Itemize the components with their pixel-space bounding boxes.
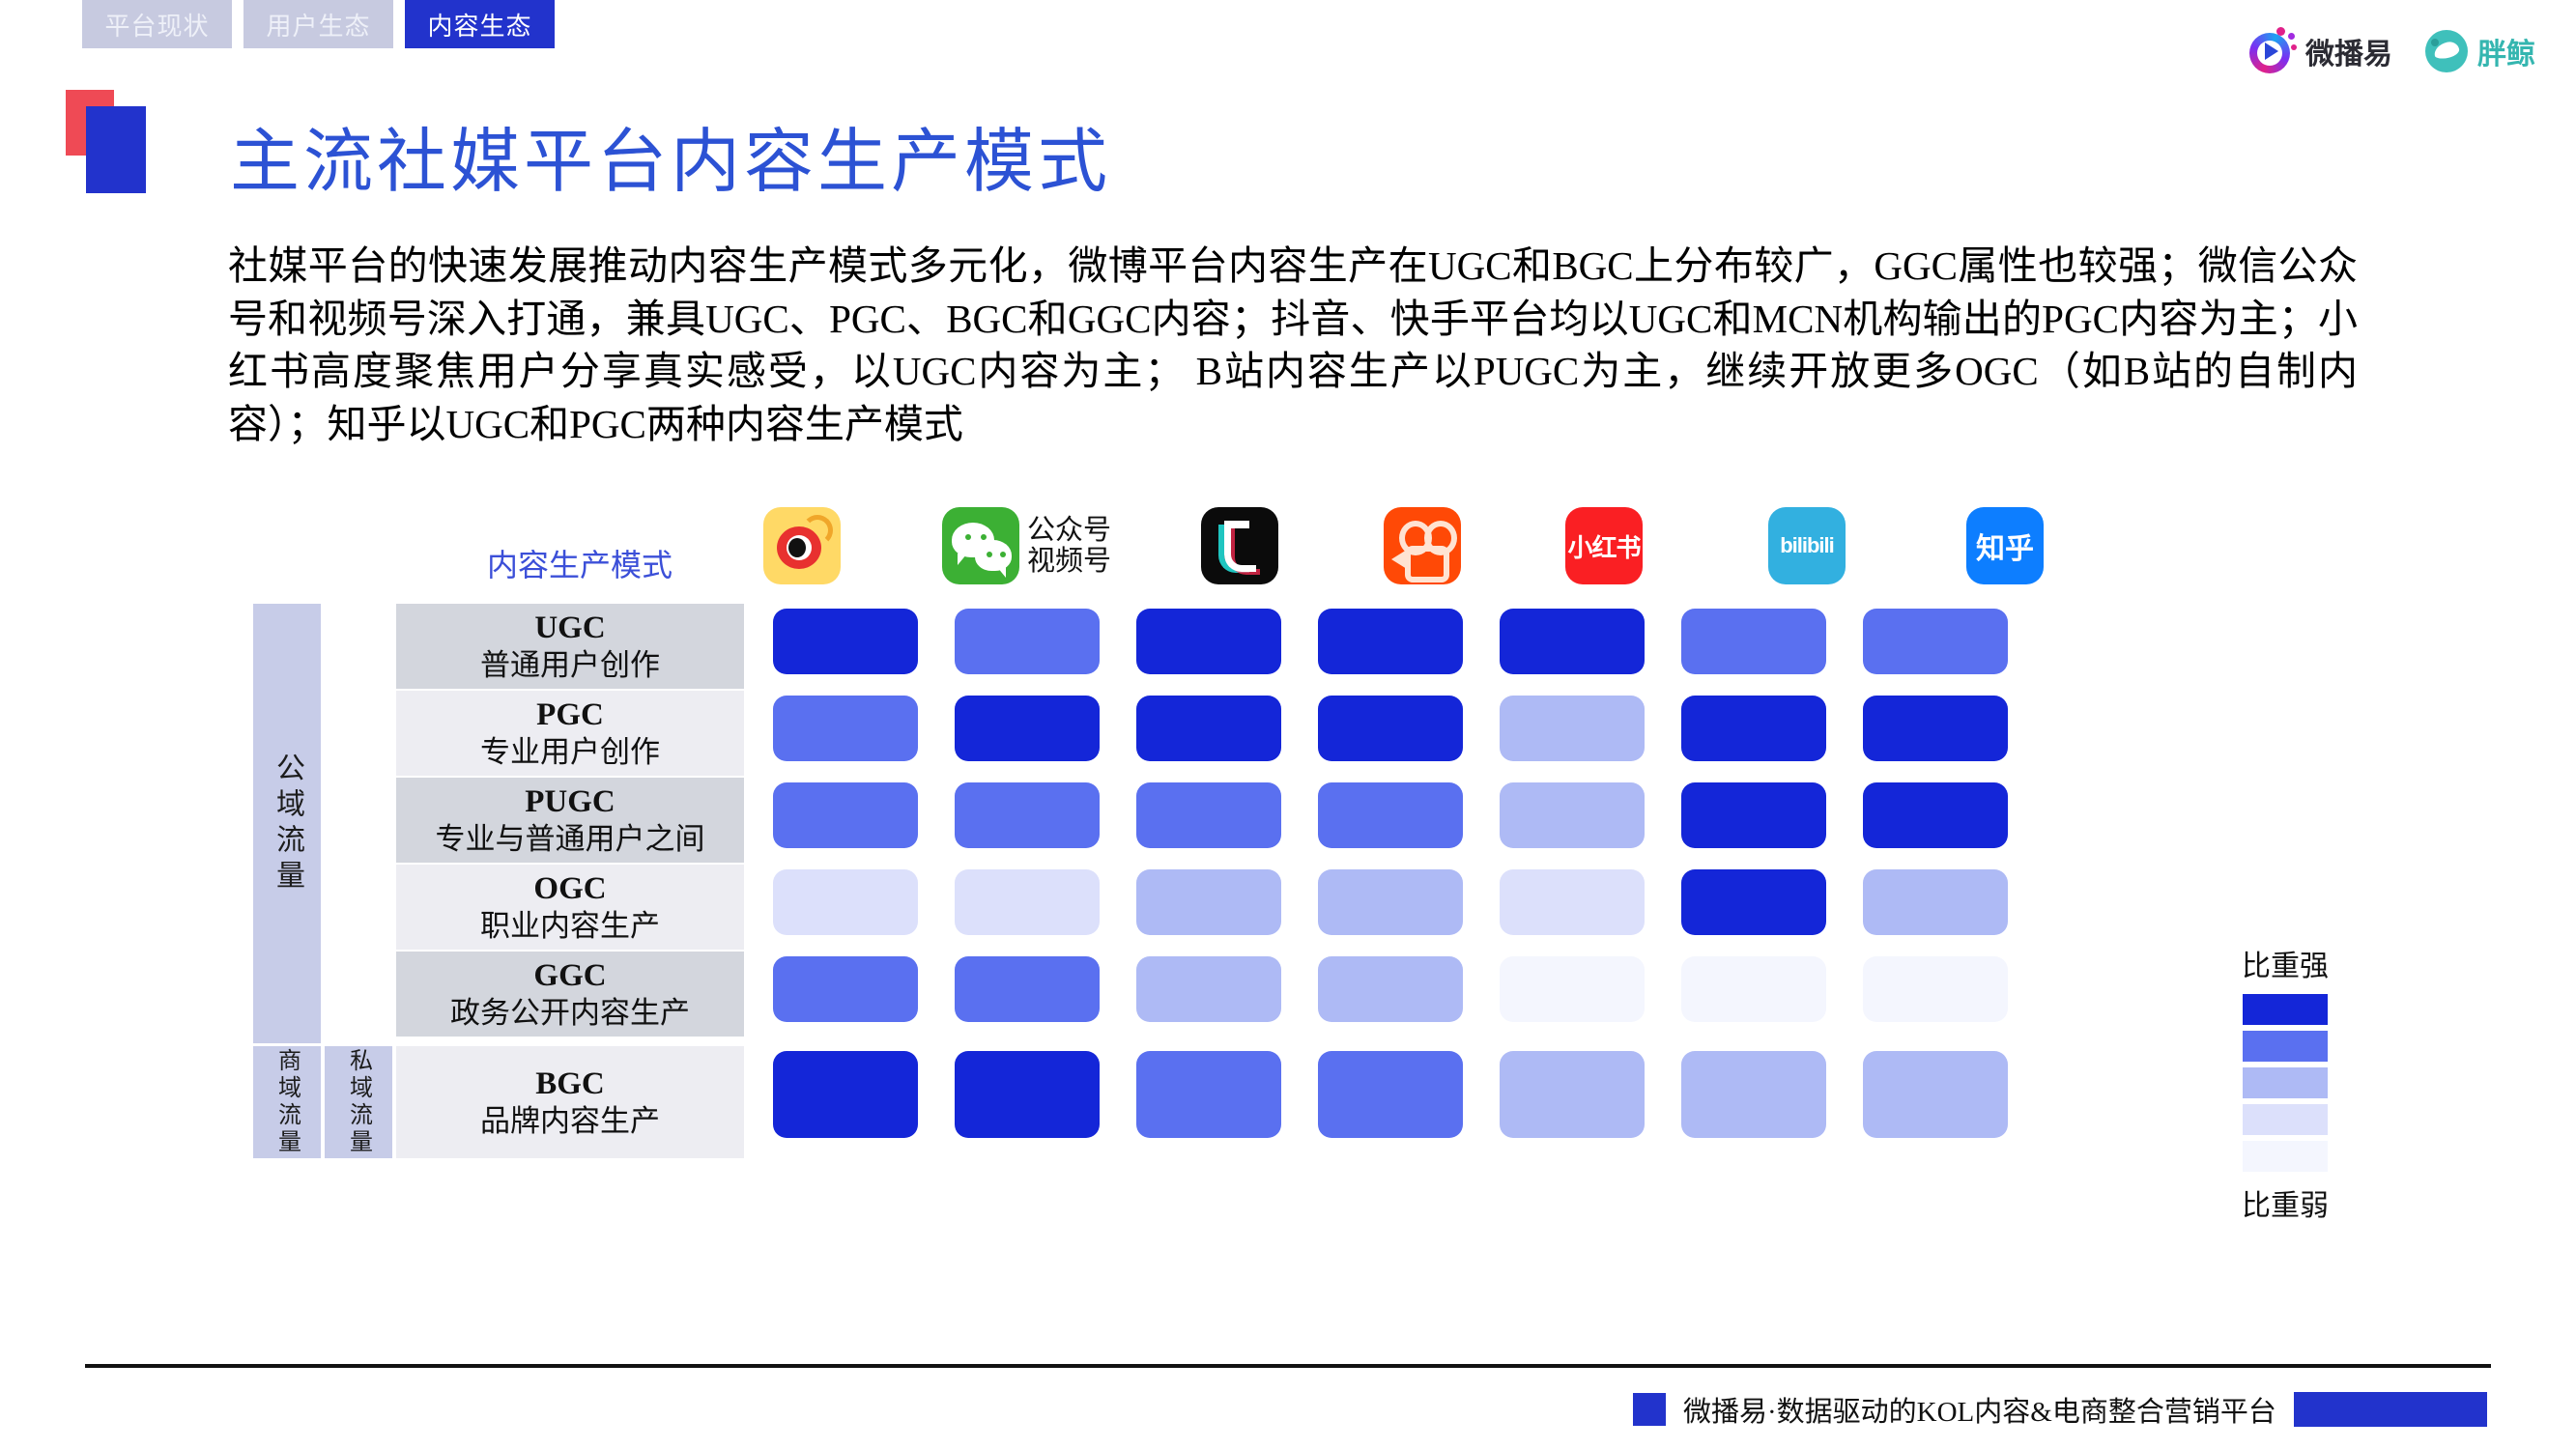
heatmap-cell — [1863, 696, 2008, 761]
heatmap-cell — [1318, 609, 1463, 674]
heatmap-cell — [955, 1051, 1100, 1138]
pangjing-logo: 胖鲸 — [2425, 30, 2535, 72]
heatmap-cell — [773, 869, 918, 935]
heatmap-cell — [1500, 869, 1645, 935]
footer: 微播易·数据驱动的KOL内容&电商整合营销平台 — [1633, 1389, 2487, 1430]
heatmap-cell — [1500, 782, 1645, 848]
heatmap-cell — [1863, 609, 2008, 674]
legend-swatches — [2243, 994, 2328, 1172]
row-label-bgc: BGC 品牌内容生产 — [396, 1046, 744, 1158]
heatmap-cell — [1863, 782, 2008, 848]
row-label-ugc: UGC 普通用户创作 — [396, 604, 744, 689]
column-header-douyin — [1201, 507, 1278, 584]
heatmap-cell — [1318, 956, 1463, 1022]
heatmap-cell — [773, 696, 918, 761]
kuaishou-icon — [1384, 507, 1461, 584]
heatmap-cell — [1681, 782, 1826, 848]
row-desc: 普通用户创作 — [480, 647, 660, 683]
row-desc: 职业内容生产 — [480, 908, 660, 944]
legend-swatch — [2243, 1031, 2328, 1062]
group-private-traffic: 私域流量 — [325, 1046, 392, 1158]
tab-content-ecosystem[interactable]: 内容生态 — [405, 0, 555, 48]
column-header-bilibili: bilibili — [1768, 507, 1846, 584]
heatmap-cell — [955, 869, 1100, 935]
legend: 比重强 比重弱 — [2193, 942, 2377, 1224]
heatmap-cell — [1681, 609, 1826, 674]
heatmap-cell — [1318, 782, 1463, 848]
heatmap-cell — [773, 956, 918, 1022]
legend-swatch — [2243, 994, 2328, 1025]
column-header-zhihu: 知乎 — [1966, 507, 2044, 584]
group-private-traffic-label: 私域流量 — [342, 1048, 376, 1156]
xiaohongshu-icon: 小红书 — [1565, 507, 1643, 584]
heatmap-cell — [1681, 869, 1826, 935]
heatmap-cell — [1136, 869, 1281, 935]
heatmap-cell — [1500, 696, 1645, 761]
heatmap-cell — [1681, 696, 1826, 761]
heatmap-cell — [1500, 609, 1645, 674]
heatmap-cell — [1863, 956, 2008, 1022]
matrix-corner-label: 内容生产模式 — [464, 541, 696, 585]
heatmap-cell — [773, 1051, 918, 1138]
row-label-pgc: PGC 专业用户创作 — [396, 691, 744, 776]
row-desc: 专业与普通用户之间 — [436, 821, 705, 857]
heatmap-cell — [1136, 956, 1281, 1022]
tab-platform-status[interactable]: 平台现状 — [82, 0, 232, 48]
legend-swatch — [2243, 1104, 2328, 1135]
row-code: PGC — [536, 696, 604, 734]
heatmap-cell — [955, 956, 1100, 1022]
legend-swatch — [2243, 1141, 2328, 1172]
zhihu-icon: 知乎 — [1966, 507, 2044, 584]
wechat-subtitle: 公众号视频号 — [1027, 515, 1111, 578]
footer-square-icon — [1633, 1393, 1666, 1426]
title-accent-blue — [86, 106, 146, 193]
heatmap-cell — [1500, 956, 1645, 1022]
column-header-xiaohongshu: 小红书 — [1565, 507, 1643, 584]
row-code: BGC — [535, 1065, 605, 1103]
row-label-ogc: OGC 职业内容生产 — [396, 865, 744, 950]
heatmap-cell — [1318, 1051, 1463, 1138]
column-header-kuaishou — [1384, 507, 1461, 584]
page-title: 主流社媒平台内容生产模式 — [230, 104, 1111, 206]
group-business-traffic: 商域流量 — [253, 1046, 321, 1158]
heatmap-cell — [1500, 1051, 1645, 1138]
row-code: UGC — [534, 610, 605, 647]
heatmap-cell — [955, 696, 1100, 761]
brand-bar: 微播易 胖鲸 — [2247, 27, 2535, 75]
tab-user-ecosystem[interactable]: 用户生态 — [243, 0, 393, 48]
heatmap-cell — [773, 609, 918, 674]
heatmap-cell — [1681, 1051, 1826, 1138]
weibo-icon — [763, 507, 841, 584]
heatmap-cell — [1863, 1051, 2008, 1138]
heatmap-cell — [1318, 696, 1463, 761]
column-header-weibo — [763, 507, 841, 584]
bilibili-icon: bilibili — [1768, 507, 1846, 584]
douyin-icon — [1201, 507, 1278, 584]
content-mode-matrix: 内容生产模式 公众号视频号 小红书 bilibili 知乎 — [0, 483, 2576, 1285]
row-desc: 政务公开内容生产 — [450, 995, 690, 1031]
heatmap-cell — [1136, 782, 1281, 848]
group-public-traffic-label: 公域流量 — [266, 753, 308, 895]
footer-bar — [2294, 1392, 2487, 1427]
heatmap-cell — [1136, 609, 1281, 674]
legend-strong-label: 比重强 — [2193, 942, 2377, 984]
row-code: PUGC — [525, 783, 615, 821]
heatmap-cell — [1136, 696, 1281, 761]
heatmap-cell — [773, 782, 918, 848]
heatmap-cell — [1318, 869, 1463, 935]
weiboyi-logo: 微播易 — [2247, 27, 2392, 75]
legend-weak-label: 比重弱 — [2193, 1181, 2377, 1224]
column-header-wechat: 公众号视频号 — [942, 507, 1111, 584]
row-code: OGC — [533, 870, 606, 908]
row-code: GGC — [533, 957, 606, 995]
footer-text: 微播易·数据驱动的KOL内容&电商整合营销平台 — [1683, 1389, 2276, 1430]
row-desc: 专业用户创作 — [480, 734, 660, 770]
heatmap-cell — [955, 609, 1100, 674]
heatmap-cell — [1863, 869, 2008, 935]
weiboyi-label: 微播易 — [2305, 30, 2392, 72]
weiboyi-play-icon — [2247, 27, 2296, 75]
wechat-icon — [942, 507, 1019, 584]
row-label-pugc: PUGC 专业与普通用户之间 — [396, 778, 744, 863]
heatmap-cell — [1681, 956, 1826, 1022]
row-label-ggc: GGC 政务公开内容生产 — [396, 952, 744, 1037]
top-nav: 平台现状 用户生态 内容生态 — [82, 0, 555, 48]
heatmap-cell — [1136, 1051, 1281, 1138]
footer-divider — [85, 1364, 2491, 1368]
legend-swatch — [2243, 1067, 2328, 1098]
heatmap-cell — [955, 782, 1100, 848]
pangjing-label: 胖鲸 — [2477, 30, 2535, 72]
group-public-traffic: 公域流量 — [253, 604, 321, 1043]
summary-paragraph: 社媒平台的快速发展推动内容生产模式多元化，微博平台内容生产在UGC和BGC上分布… — [228, 240, 2358, 450]
whale-icon — [2425, 30, 2468, 72]
row-desc: 品牌内容生产 — [480, 1103, 660, 1139]
group-business-traffic-label: 商域流量 — [271, 1048, 304, 1156]
